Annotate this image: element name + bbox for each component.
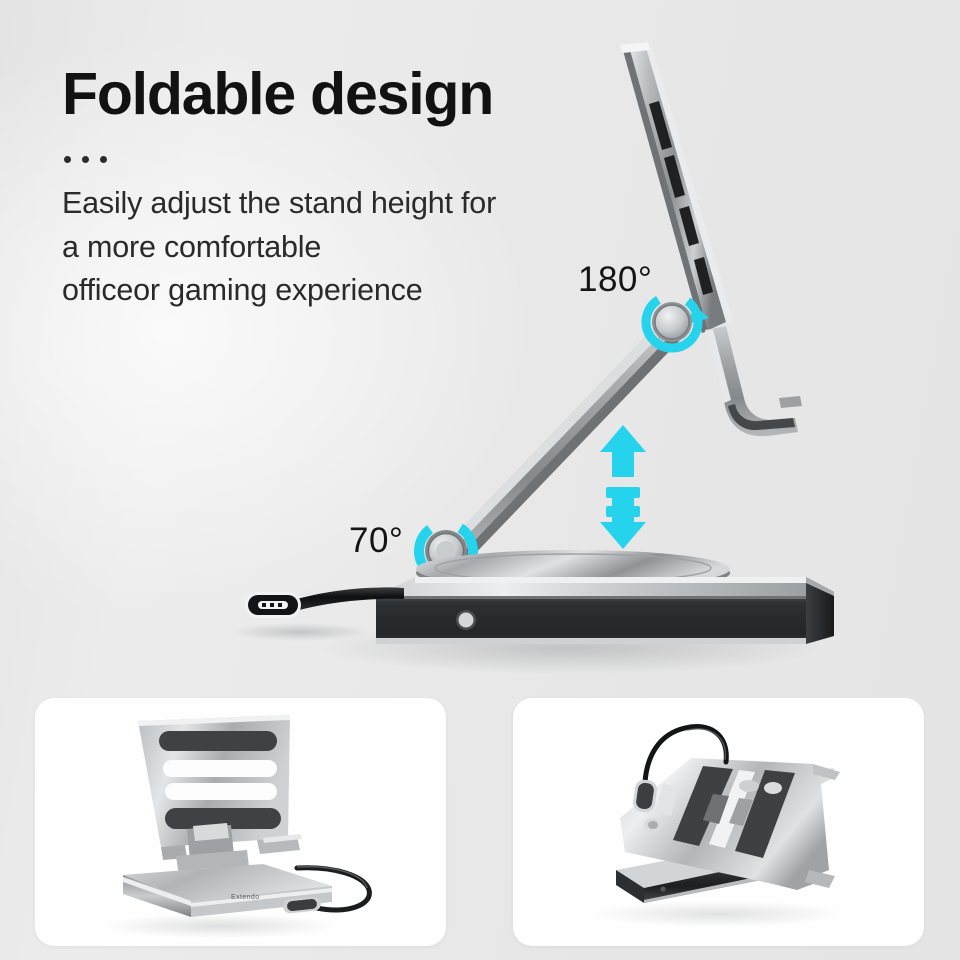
vent-slot <box>165 783 277 800</box>
vent-hole <box>764 782 782 794</box>
device-hook-lip <box>705 326 802 436</box>
angle-label-bottom: 70° <box>349 521 403 561</box>
brand-logo: Extendo <box>231 894 260 901</box>
cable-shadow <box>230 623 370 641</box>
usb-c-connector-icon <box>245 592 301 618</box>
thumbnail-gallery: Extendo <box>0 698 960 948</box>
thumb-shadow <box>105 914 335 938</box>
height-adjust-arrow-icon <box>600 425 646 549</box>
support-arm <box>446 318 683 563</box>
vent-hole <box>739 780 759 792</box>
stand-upright-illustration: Extendo <box>35 698 446 946</box>
angle-label-top: 180° <box>578 260 652 300</box>
product-illustration <box>0 0 960 700</box>
product-marketing-page: Foldable design Easily adjust the stand … <box>0 0 960 960</box>
card-stand-folded-flat-view[interactable] <box>513 698 924 946</box>
rubber-pad <box>159 731 277 751</box>
vent-slot <box>163 760 277 777</box>
thumb-shadow <box>593 901 843 927</box>
card-stand-upright-view[interactable]: Extendo <box>35 698 446 946</box>
stand-folded-illustration <box>513 698 924 946</box>
indicator-light-icon <box>660 886 665 891</box>
dock-base <box>376 550 834 644</box>
